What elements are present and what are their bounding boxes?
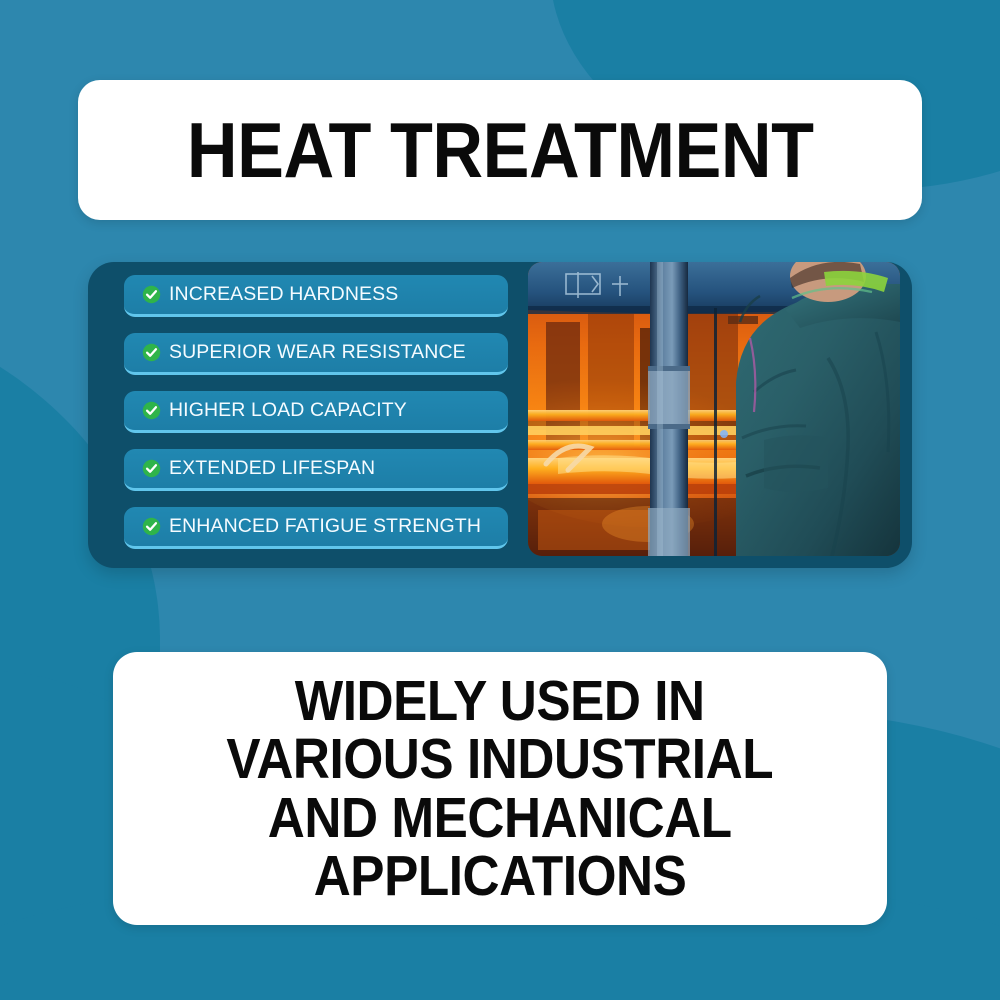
check-circle-icon — [142, 343, 161, 362]
check-circle-icon — [142, 459, 161, 478]
heat-treatment-furnace-photo — [528, 262, 900, 556]
page-title: HEAT TREATMENT — [187, 111, 814, 189]
list-item-label: ENHANCED FATIGUE STRENGTH — [169, 517, 481, 537]
title-card: HEAT TREATMENT — [78, 80, 922, 220]
infographic-poster: HEAT TREATMENT INCREASED HARDNESS SUPERI… — [0, 0, 1000, 1000]
list-item-label: HIGHER LOAD CAPACITY — [169, 401, 407, 421]
check-circle-icon — [142, 285, 161, 304]
caption-line: WIDELY USED IN — [295, 672, 705, 730]
list-item-label: INCREASED HARDNESS — [169, 285, 398, 305]
list-item-label: SUPERIOR WEAR RESISTANCE — [169, 343, 466, 363]
caption-line: APPLICATIONS — [314, 847, 687, 905]
check-circle-icon — [142, 401, 161, 420]
caption-line: AND MECHANICAL — [268, 789, 732, 847]
list-item[interactable]: INCREASED HARDNESS — [124, 275, 508, 317]
features-panel: INCREASED HARDNESS SUPERIOR WEAR RESISTA… — [88, 262, 912, 568]
check-circle-icon — [142, 517, 161, 536]
list-item[interactable]: ENHANCED FATIGUE STRENGTH — [124, 507, 508, 549]
list-item[interactable]: HIGHER LOAD CAPACITY — [124, 391, 508, 433]
caption-card: WIDELY USED IN VARIOUS INDUSTRIAL AND ME… — [113, 652, 887, 925]
caption-line: VARIOUS INDUSTRIAL — [227, 730, 774, 788]
list-item[interactable]: SUPERIOR WEAR RESISTANCE — [124, 333, 508, 375]
feature-list: INCREASED HARDNESS SUPERIOR WEAR RESISTA… — [124, 275, 508, 549]
list-item-label: EXTENDED LIFESPAN — [169, 459, 375, 479]
list-item[interactable]: EXTENDED LIFESPAN — [124, 449, 508, 491]
